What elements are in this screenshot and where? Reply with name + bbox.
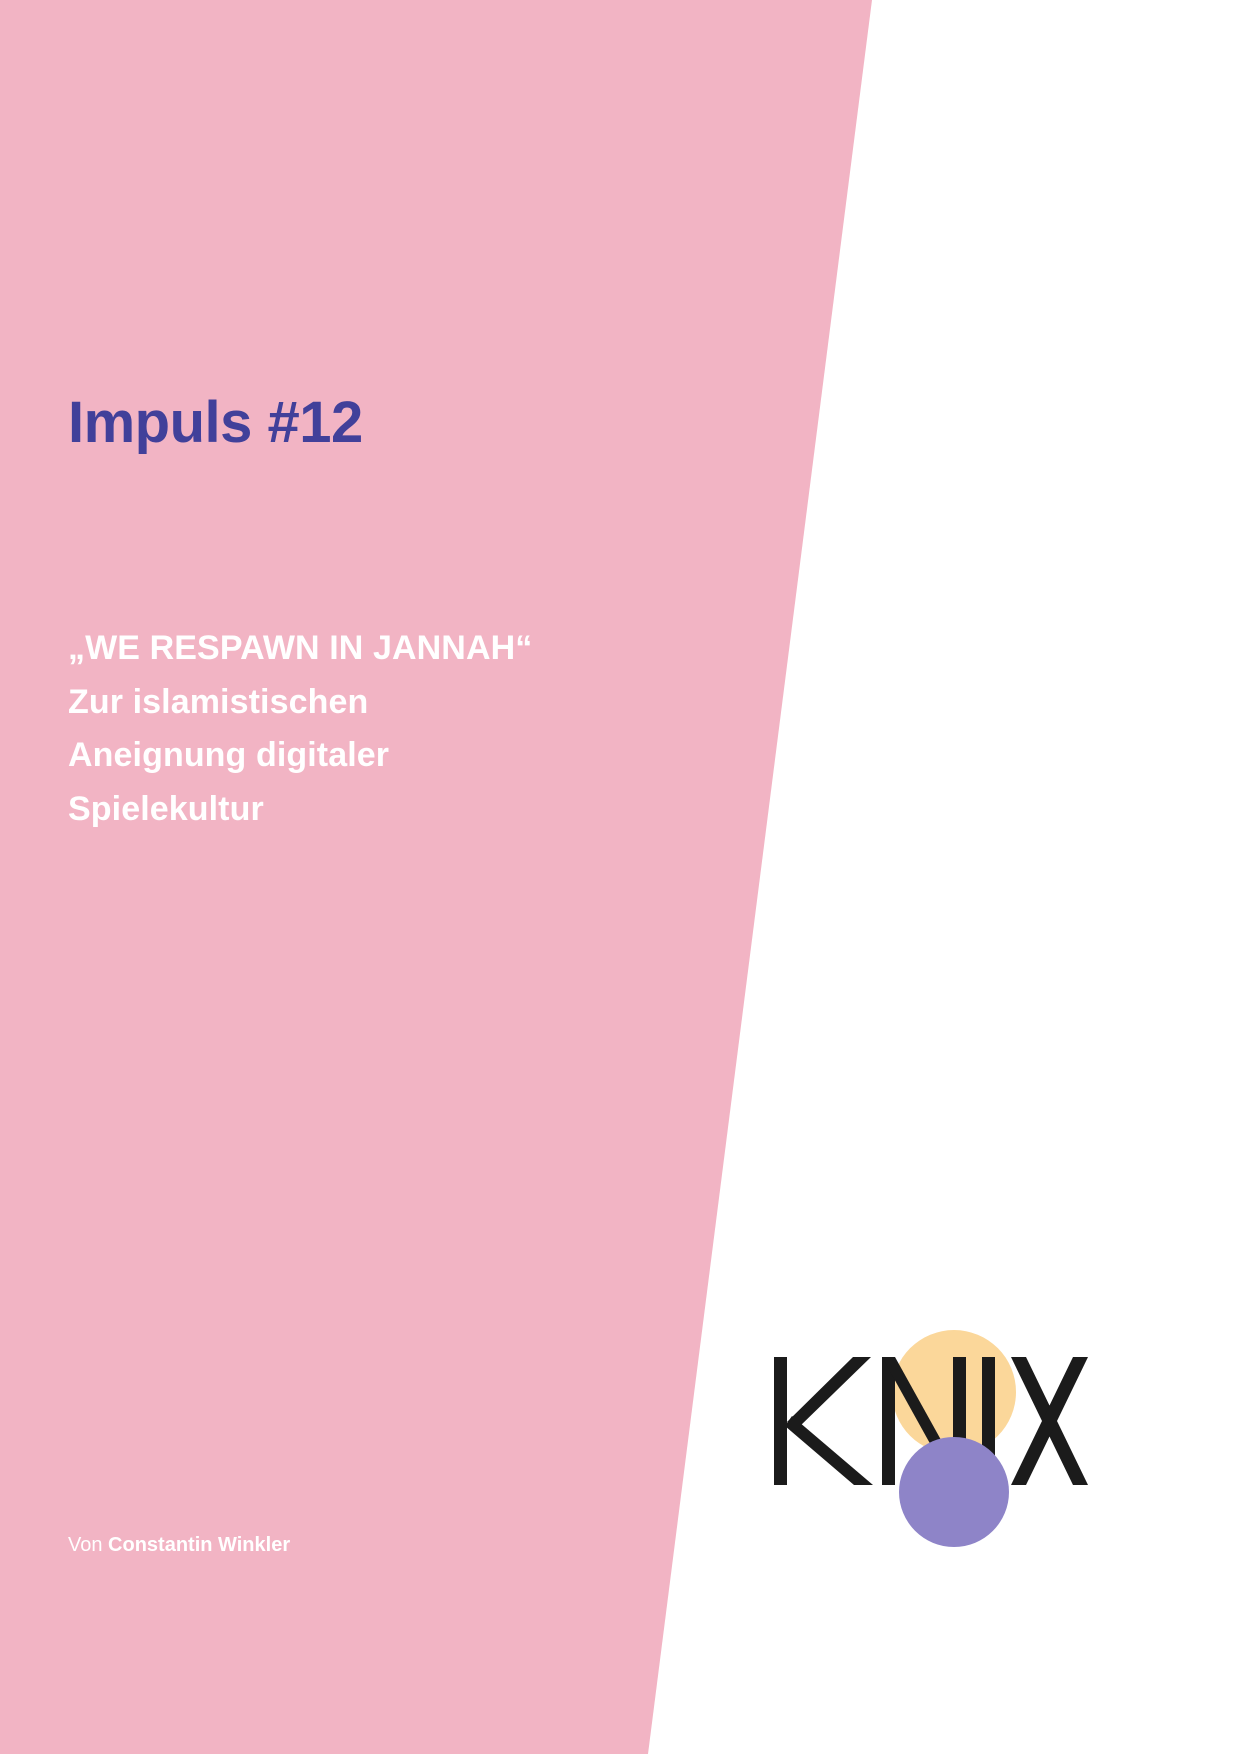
cover-content: Impuls #12 „WE RESPAWN IN JANNAH“ Zur is…: [68, 0, 708, 1754]
subtitle-line-3: Aneignung digitaler: [68, 729, 708, 783]
byline-prefix: Von: [68, 1534, 102, 1556]
author-byline: Von Constantin Winkler: [68, 1533, 290, 1557]
subtitle-line-4: Spielekultur: [68, 783, 708, 837]
subtitle-line-2: Zur islamistischen: [68, 676, 708, 730]
logo-letter-k-stem: [774, 1357, 787, 1485]
series-title: Impuls #12: [68, 393, 363, 454]
subtitle-line-1: „WE RESPAWN IN JANNAH“: [68, 622, 708, 676]
logo-letter-k-lower-arm: [785, 1416, 873, 1485]
document-subtitle: „WE RESPAWN IN JANNAH“ Zur islamistische…: [68, 622, 708, 837]
knix-logo: [758, 1300, 1078, 1550]
byline-author-name: Constantin Winkler: [108, 1534, 290, 1556]
logo-letter-k-upper-arm: [787, 1357, 871, 1428]
cover-page: Impuls #12 „WE RESPAWN IN JANNAH“ Zur is…: [0, 0, 1240, 1754]
logo-purple-circle: [899, 1437, 1009, 1547]
